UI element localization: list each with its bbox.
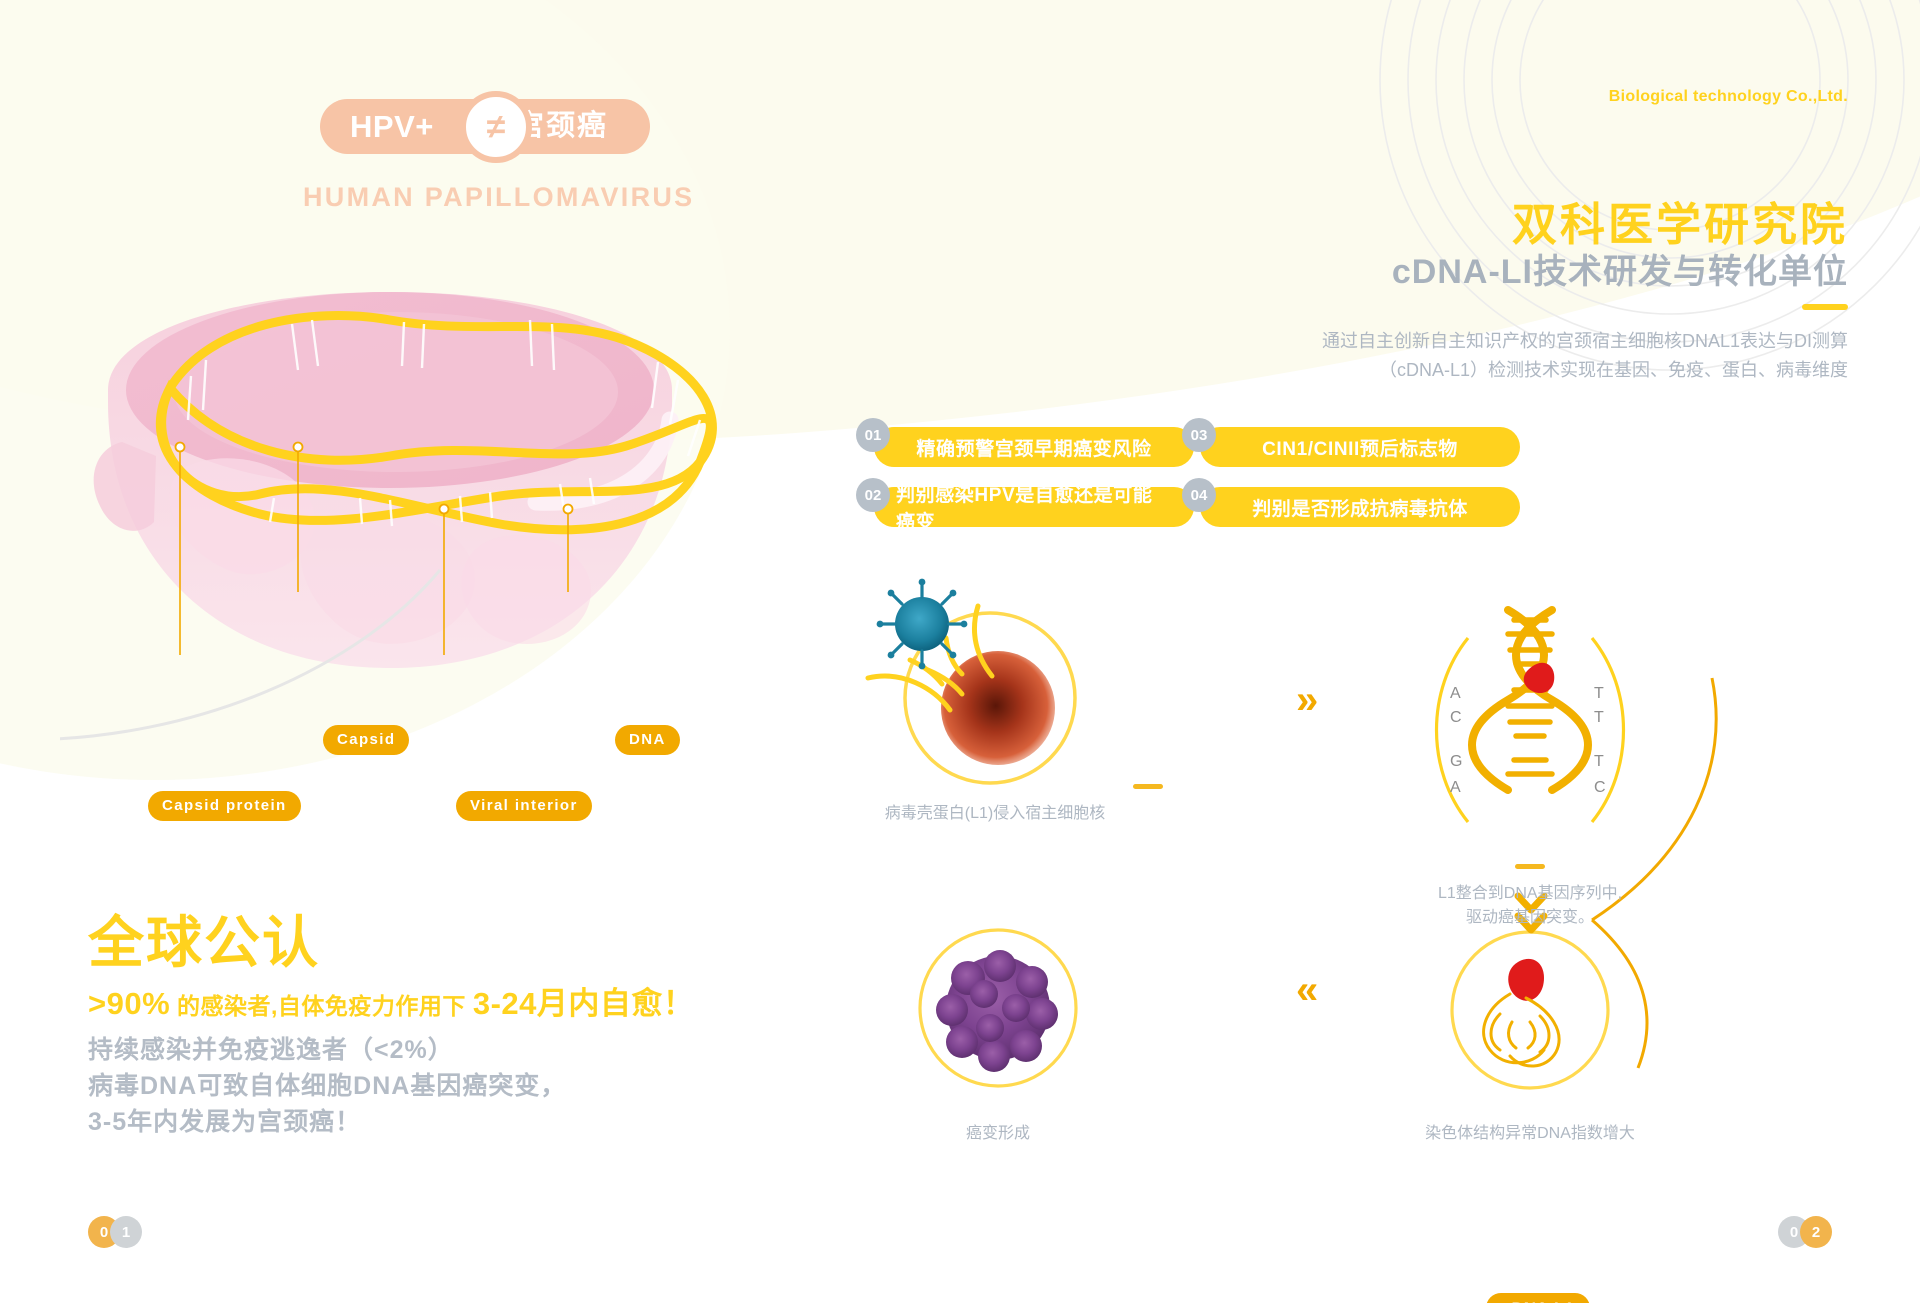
flow-caption-step-2-line-1: L1整合到DNA基因序列中,	[1410, 882, 1650, 906]
stat-middle-text: 的感染者,自体免疫力作用下	[170, 993, 473, 1019]
flow-caption-step-3: 染色体结构异常DNA指数增大	[1410, 1122, 1650, 1146]
paragraph-line-3: 3-5年内发展为宫颈癌！	[88, 1104, 566, 1140]
paragraph-line-1: 持续感染并免疫逃逸者（<2%）	[88, 1032, 566, 1068]
hpv-label: HPV+	[350, 99, 434, 154]
page-number-left: 0 1	[88, 1216, 142, 1248]
stat-duration: 3-24月内自愈！	[473, 986, 695, 1021]
flow-caption-step-4: 癌变形成	[918, 1122, 1078, 1146]
feature-number-04: 04	[1182, 478, 1216, 512]
description-line-2: （cDNA-L1）检测技术实现在基因、免疫、蛋白、病毒维度	[1248, 356, 1848, 385]
paragraph-line-2: 病毒DNA可致自体细胞DNA基因癌突变，	[88, 1068, 566, 1104]
not-equal-icon: ≠	[460, 91, 532, 163]
dna-base-left-3: A	[1450, 779, 1461, 796]
dna-base-left-1: C	[1450, 709, 1462, 726]
callout-capsid-protein: Capsid protein	[148, 791, 301, 821]
page-number-right-second: 2	[1800, 1216, 1832, 1248]
description-line-1: 通过自主创新自主知识产权的宫颈宿主细胞核DNAL1表达与DI测算	[1248, 327, 1848, 356]
gold-divider	[1802, 304, 1848, 310]
cdna-l1-badge: cDNA-L1	[1486, 1293, 1590, 1303]
feature-label-04: 判别是否形成抗病毒抗体	[1200, 487, 1520, 527]
page-number-right: 0 2	[1778, 1216, 1832, 1248]
right-page: Biological technology Co.,Ltd. 双科医学研究院 c…	[1010, 0, 1920, 1303]
arrow-left-icon: «	[1296, 970, 1318, 1010]
dna-base-right-3: C	[1594, 779, 1606, 796]
dna-base-left-0: A	[1450, 685, 1461, 702]
flow-graphics: A C G A T T T C	[850, 570, 1920, 1100]
left-paragraph: 持续感染并免疫逃逸者（<2%） 病毒DNA可致自体细胞DNA基因癌突变， 3-5…	[88, 1032, 566, 1140]
arrow-right-icon: »	[1296, 680, 1318, 720]
callout-capsid: Capsid	[323, 725, 409, 755]
callout-viral-interior: Viral interior	[456, 791, 592, 821]
institute-subtitle: cDNA-LI技术研发与转化单位	[1392, 244, 1848, 293]
company-name: Biological technology Co.,Ltd.	[1609, 88, 1848, 106]
dna-base-right-1: T	[1594, 709, 1604, 726]
feature-label-01: 精确预警宫颈早期癌变风险	[874, 427, 1194, 467]
page-number-left-second: 1	[110, 1216, 142, 1248]
callout-dna: DNA	[615, 725, 680, 755]
dna-base-right-0: T	[1594, 685, 1604, 702]
flow-caption-step-1: 病毒壳蛋白(L1)侵入宿主细胞核	[880, 802, 1110, 826]
headline-global-consensus: 全球公认	[88, 898, 320, 979]
human-papillomavirus-subtitle: HUMAN PAPILLOMAVIRUS	[303, 182, 695, 213]
feature-number-02: 02	[856, 478, 890, 512]
feature-number-01: 01	[856, 418, 890, 452]
virus-particle-icon	[877, 579, 968, 670]
virus-illustration	[60, 270, 860, 750]
stat-percent: >90%	[88, 986, 170, 1021]
hpv-badge: HPV+ 宫颈癌 ≠	[320, 99, 650, 161]
flow-caption-step-2: L1整合到DNA基因序列中, 驱动癌基因突变。	[1410, 882, 1650, 930]
dna-base-right-2: T	[1594, 753, 1604, 770]
institute-description: 通过自主创新自主知识产权的宫颈宿主细胞核DNAL1表达与DI测算 （cDNA-L…	[1248, 327, 1848, 385]
stat-line: >90% 的感染者,自体免疫力作用下 3-24月内自愈！	[88, 978, 694, 1023]
dna-base-left-2: G	[1450, 753, 1462, 770]
process-flow-diagram: A C G A T T T C	[850, 570, 1920, 1100]
feature-label-02: 判别感染HPV是自愈还是可能癌变	[874, 487, 1194, 527]
feature-number-03: 03	[1182, 418, 1216, 452]
feature-label-03: CIN1/CINII预后标志物	[1200, 427, 1520, 467]
flow-caption-step-2-line-2: 驱动癌基因突变。	[1410, 906, 1650, 930]
